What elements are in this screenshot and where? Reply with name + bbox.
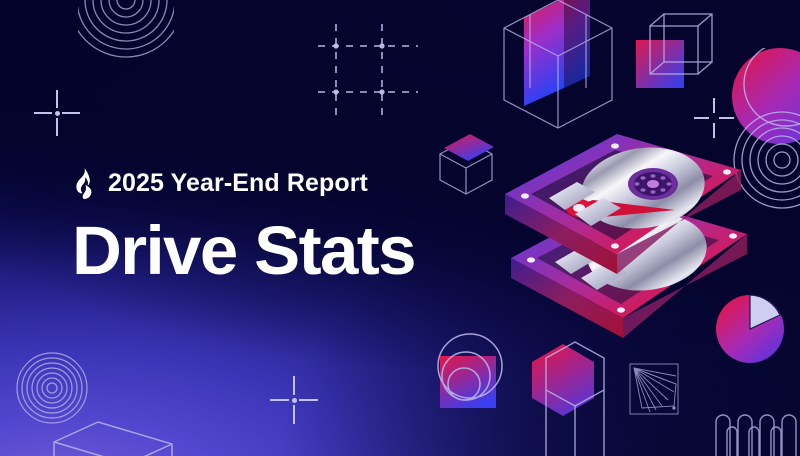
page-title: Drive Stats (72, 216, 415, 285)
crosshair-bottom-icon (270, 376, 318, 424)
report-eyebrow: 2025 Year-End Report (72, 168, 415, 199)
headline-block: 2025 Year-End Report Drive Stats (72, 168, 415, 285)
flame-icon (72, 168, 95, 199)
hard-drive-stack-illustration (497, 126, 767, 342)
eyebrow-text: 2025 Year-End Report (108, 171, 368, 196)
crosshair-left-icon (34, 90, 80, 136)
drive-stats-banner: 2025 Year-End Report Drive Stats (0, 0, 800, 456)
